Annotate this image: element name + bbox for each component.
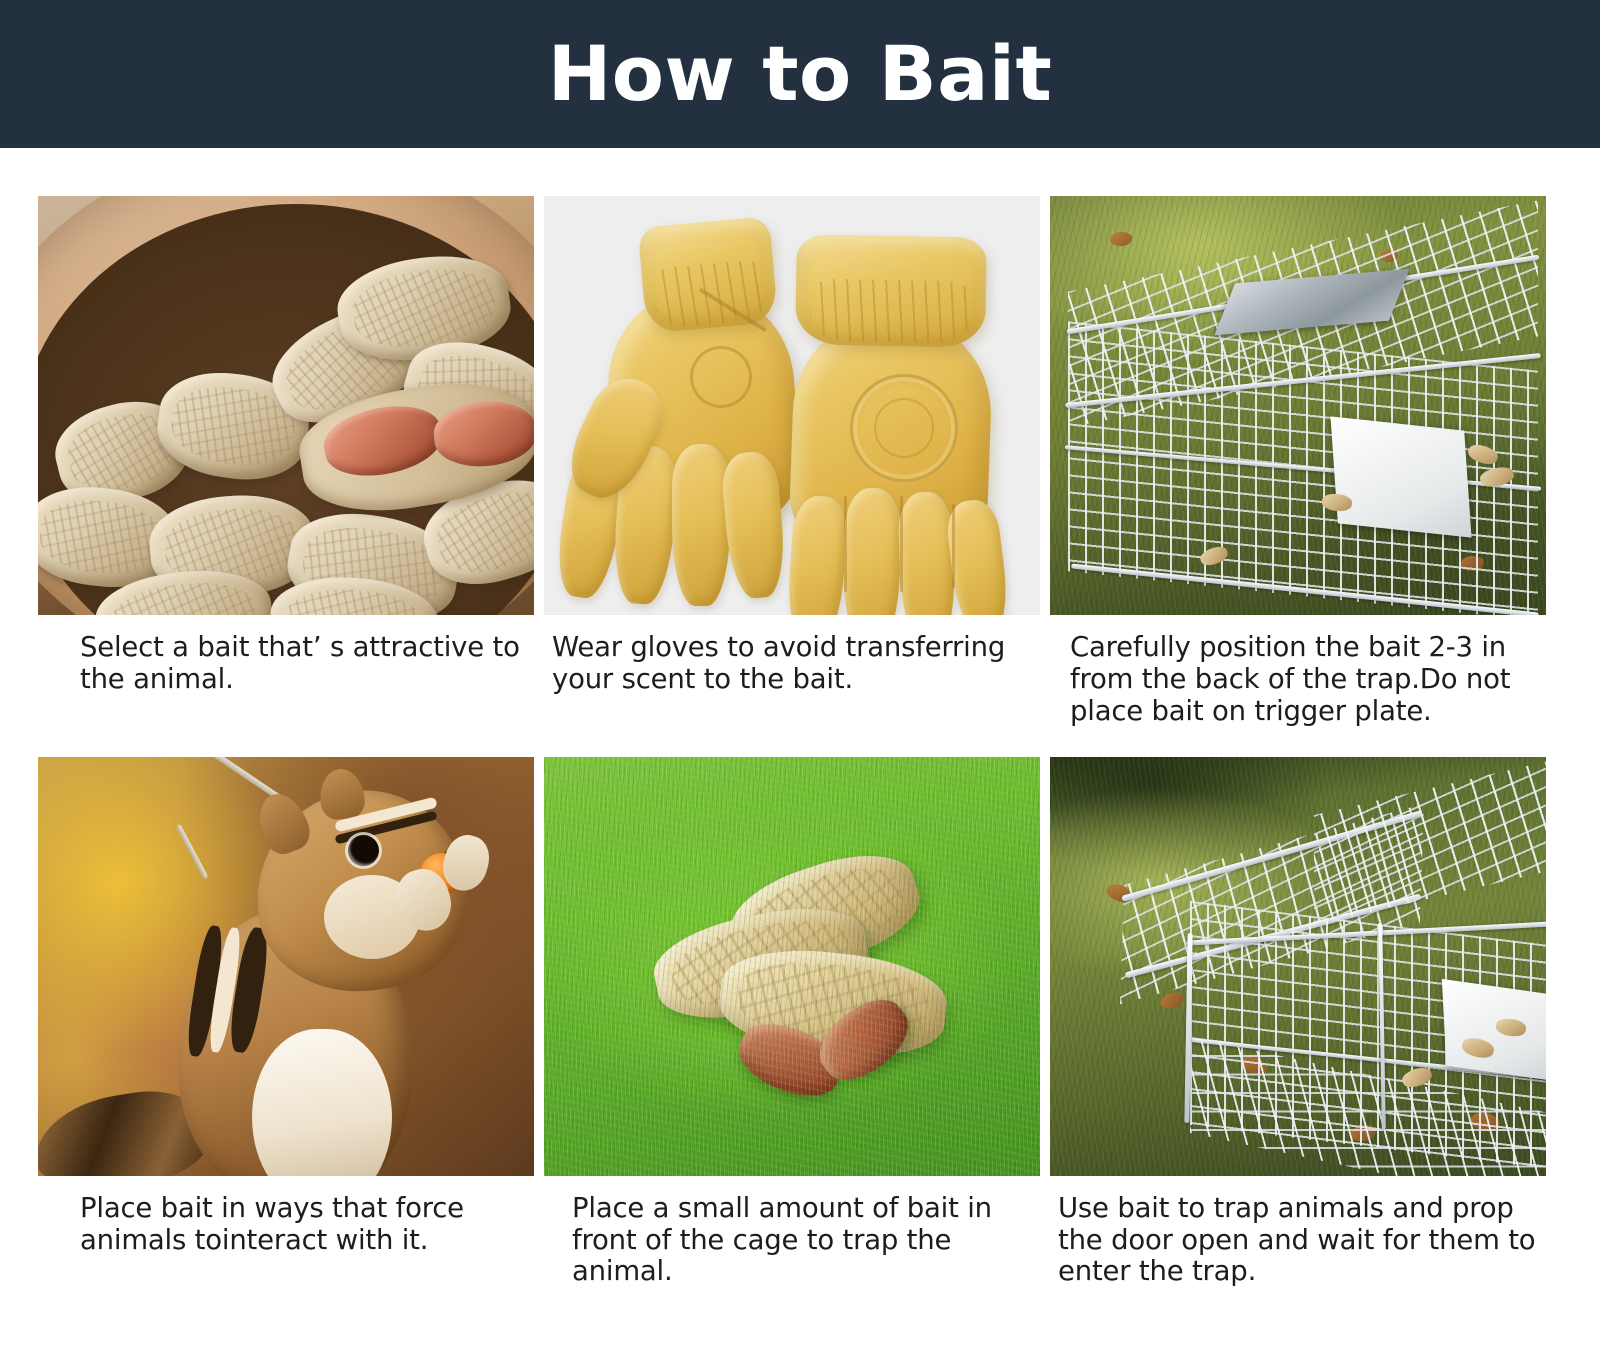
- step-card-5: Place a small amount of bait in front of…: [544, 757, 1040, 1289]
- chipmunk-ear: [318, 767, 367, 821]
- trigger-plate: [1330, 416, 1471, 537]
- page-header: How to Bait: [0, 0, 1600, 148]
- peanuts-in-wooden-bowl-photo: [38, 196, 534, 615]
- step-card-6: Use bait to trap animals and prop the do…: [1050, 757, 1546, 1289]
- glove-seam: [690, 346, 752, 408]
- leather-work-gloves-photo: [544, 196, 1040, 615]
- glove-finger: [897, 491, 956, 615]
- step-caption: Carefully position the bait 2-3 in from …: [1050, 632, 1546, 728]
- steps-row-bottom: Place bait in ways that force animals to…: [38, 757, 1562, 1289]
- live-trap-door-open-photo: [1050, 757, 1546, 1176]
- glove-seam: [952, 504, 955, 588]
- glove-cuff: [638, 216, 779, 333]
- glove-seam: [900, 496, 903, 592]
- steps-grid: Select a bait that’ s attractive to the …: [0, 148, 1600, 1288]
- glove-cuff: [795, 234, 987, 347]
- live-trap-cage-with-bait-photo: [1050, 196, 1546, 615]
- peanut-kernel: [807, 986, 921, 1094]
- peanut-shell: [720, 838, 930, 988]
- glove-seam: [844, 496, 847, 592]
- embossed-brand-logo: [850, 374, 958, 482]
- step-caption: Use bait to trap animals and prop the do…: [1050, 1193, 1546, 1289]
- chipmunk-eye: [348, 835, 379, 866]
- step-caption: Select a bait that’ s attractive to the …: [38, 632, 534, 696]
- step-card-1: Select a bait that’ s attractive to the …: [38, 196, 534, 728]
- glove-finger: [843, 488, 902, 615]
- chipmunk-eating-photo: [38, 757, 534, 1176]
- steps-row-top: Select a bait that’ s attractive to the …: [38, 196, 1562, 728]
- step-caption: Wear gloves to avoid transferring your s…: [544, 632, 1040, 696]
- peanut-shell: [715, 941, 950, 1064]
- step-card-3: Carefully position the bait 2-3 in from …: [1050, 196, 1546, 728]
- step-card-2: Wear gloves to avoid transferring your s…: [544, 196, 1040, 728]
- peanut-kernel: [730, 1011, 850, 1107]
- step-caption: Place a small amount of bait in front of…: [544, 1193, 1040, 1289]
- step-card-4: Place bait in ways that force animals to…: [38, 757, 534, 1289]
- peanut-shell: [646, 893, 875, 1031]
- twig: [176, 824, 209, 879]
- peanuts-on-grass-photo: [544, 757, 1040, 1176]
- glove-finger: [672, 444, 730, 606]
- page-title: How to Bait: [548, 36, 1053, 112]
- step-caption: Place bait in ways that force animals to…: [38, 1193, 534, 1257]
- trigger-plate: [1442, 978, 1546, 1080]
